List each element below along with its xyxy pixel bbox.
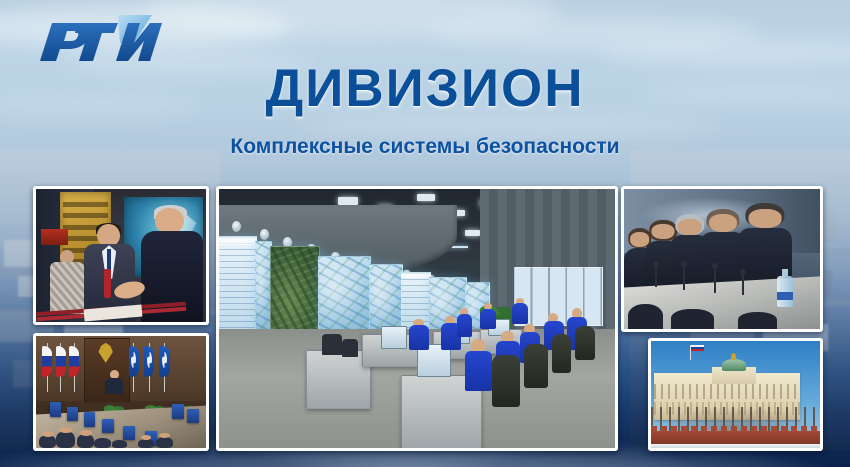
photo-grand-kremlin-palace[interactable]	[648, 338, 823, 451]
presentation-slide: ДИВИЗИОН Комплексные системы безопасност…	[0, 0, 850, 467]
photo-situation-control-room[interactable]	[216, 186, 618, 451]
page-subtitle: Комплексные системы безопасности	[0, 135, 850, 159]
photo-government-meeting-hall[interactable]	[33, 333, 209, 451]
rti-logo	[22, 13, 162, 69]
cloud-wisp	[430, 18, 760, 48]
photo-officials-at-conference-table[interactable]	[621, 186, 823, 332]
page-title: ДИВИЗИОН	[0, 62, 850, 115]
cloud-wisp	[140, 0, 560, 38]
photo-handshake-at-exhibition[interactable]	[33, 186, 209, 325]
